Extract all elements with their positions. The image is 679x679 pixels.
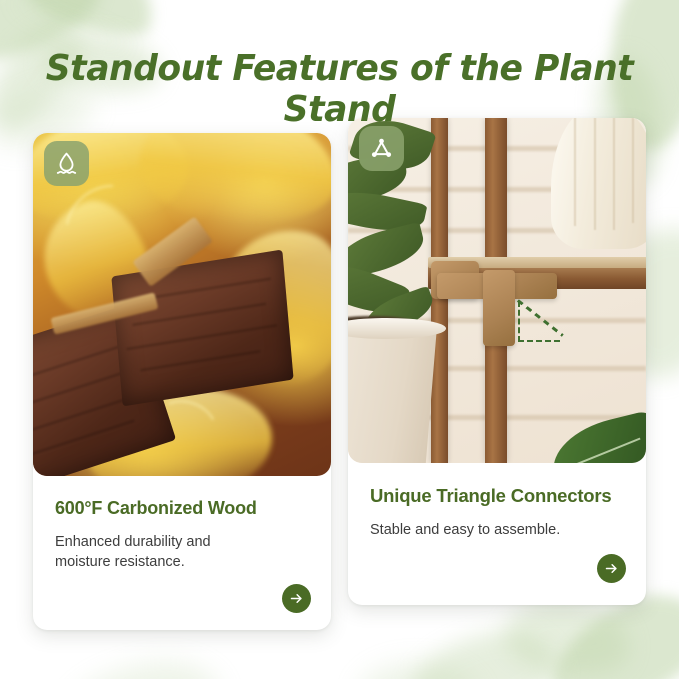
water-drop-badge bbox=[44, 141, 89, 186]
card-image-plant-stand bbox=[348, 118, 646, 463]
triangle-connector-icon bbox=[368, 135, 395, 162]
card-heading: 600°F Carbonized Wood bbox=[55, 498, 309, 519]
card-description: Stable and easy to assemble. bbox=[370, 521, 585, 541]
card-arrow-button[interactable] bbox=[597, 554, 626, 583]
leaf-shape bbox=[356, 657, 482, 679]
leaf-stem bbox=[16, 0, 128, 51]
ceramic-vase bbox=[551, 118, 646, 249]
leaf-shape bbox=[66, 655, 224, 679]
card-body: Unique Triangle Connectors Stable and ea… bbox=[348, 463, 646, 605]
leaf-shape bbox=[18, 0, 163, 47]
card-heading: Unique Triangle Connectors bbox=[370, 485, 624, 507]
log-primary bbox=[112, 250, 294, 407]
card-arrow-button[interactable] bbox=[282, 584, 311, 613]
page-title: Standout Features of the Plant Stand bbox=[14, 48, 666, 130]
card-image-burning-log bbox=[33, 133, 331, 476]
card-description: Enhanced durability and moisture resista… bbox=[55, 533, 270, 572]
arrow-right-icon bbox=[289, 591, 304, 606]
triangle-connector-badge bbox=[359, 126, 404, 171]
feature-card-triangle-connectors[interactable]: Unique Triangle Connectors Stable and ea… bbox=[348, 118, 646, 605]
feature-card-list: 600°F Carbonized Wood Enhanced durabilit… bbox=[33, 118, 646, 630]
water-drop-icon bbox=[53, 150, 80, 177]
card-body: 600°F Carbonized Wood Enhanced durabilit… bbox=[33, 476, 331, 630]
arrow-right-icon bbox=[604, 561, 619, 576]
feature-card-carbonized-wood[interactable]: 600°F Carbonized Wood Enhanced durabilit… bbox=[33, 133, 331, 630]
triangle-connector-vertical bbox=[483, 270, 516, 346]
